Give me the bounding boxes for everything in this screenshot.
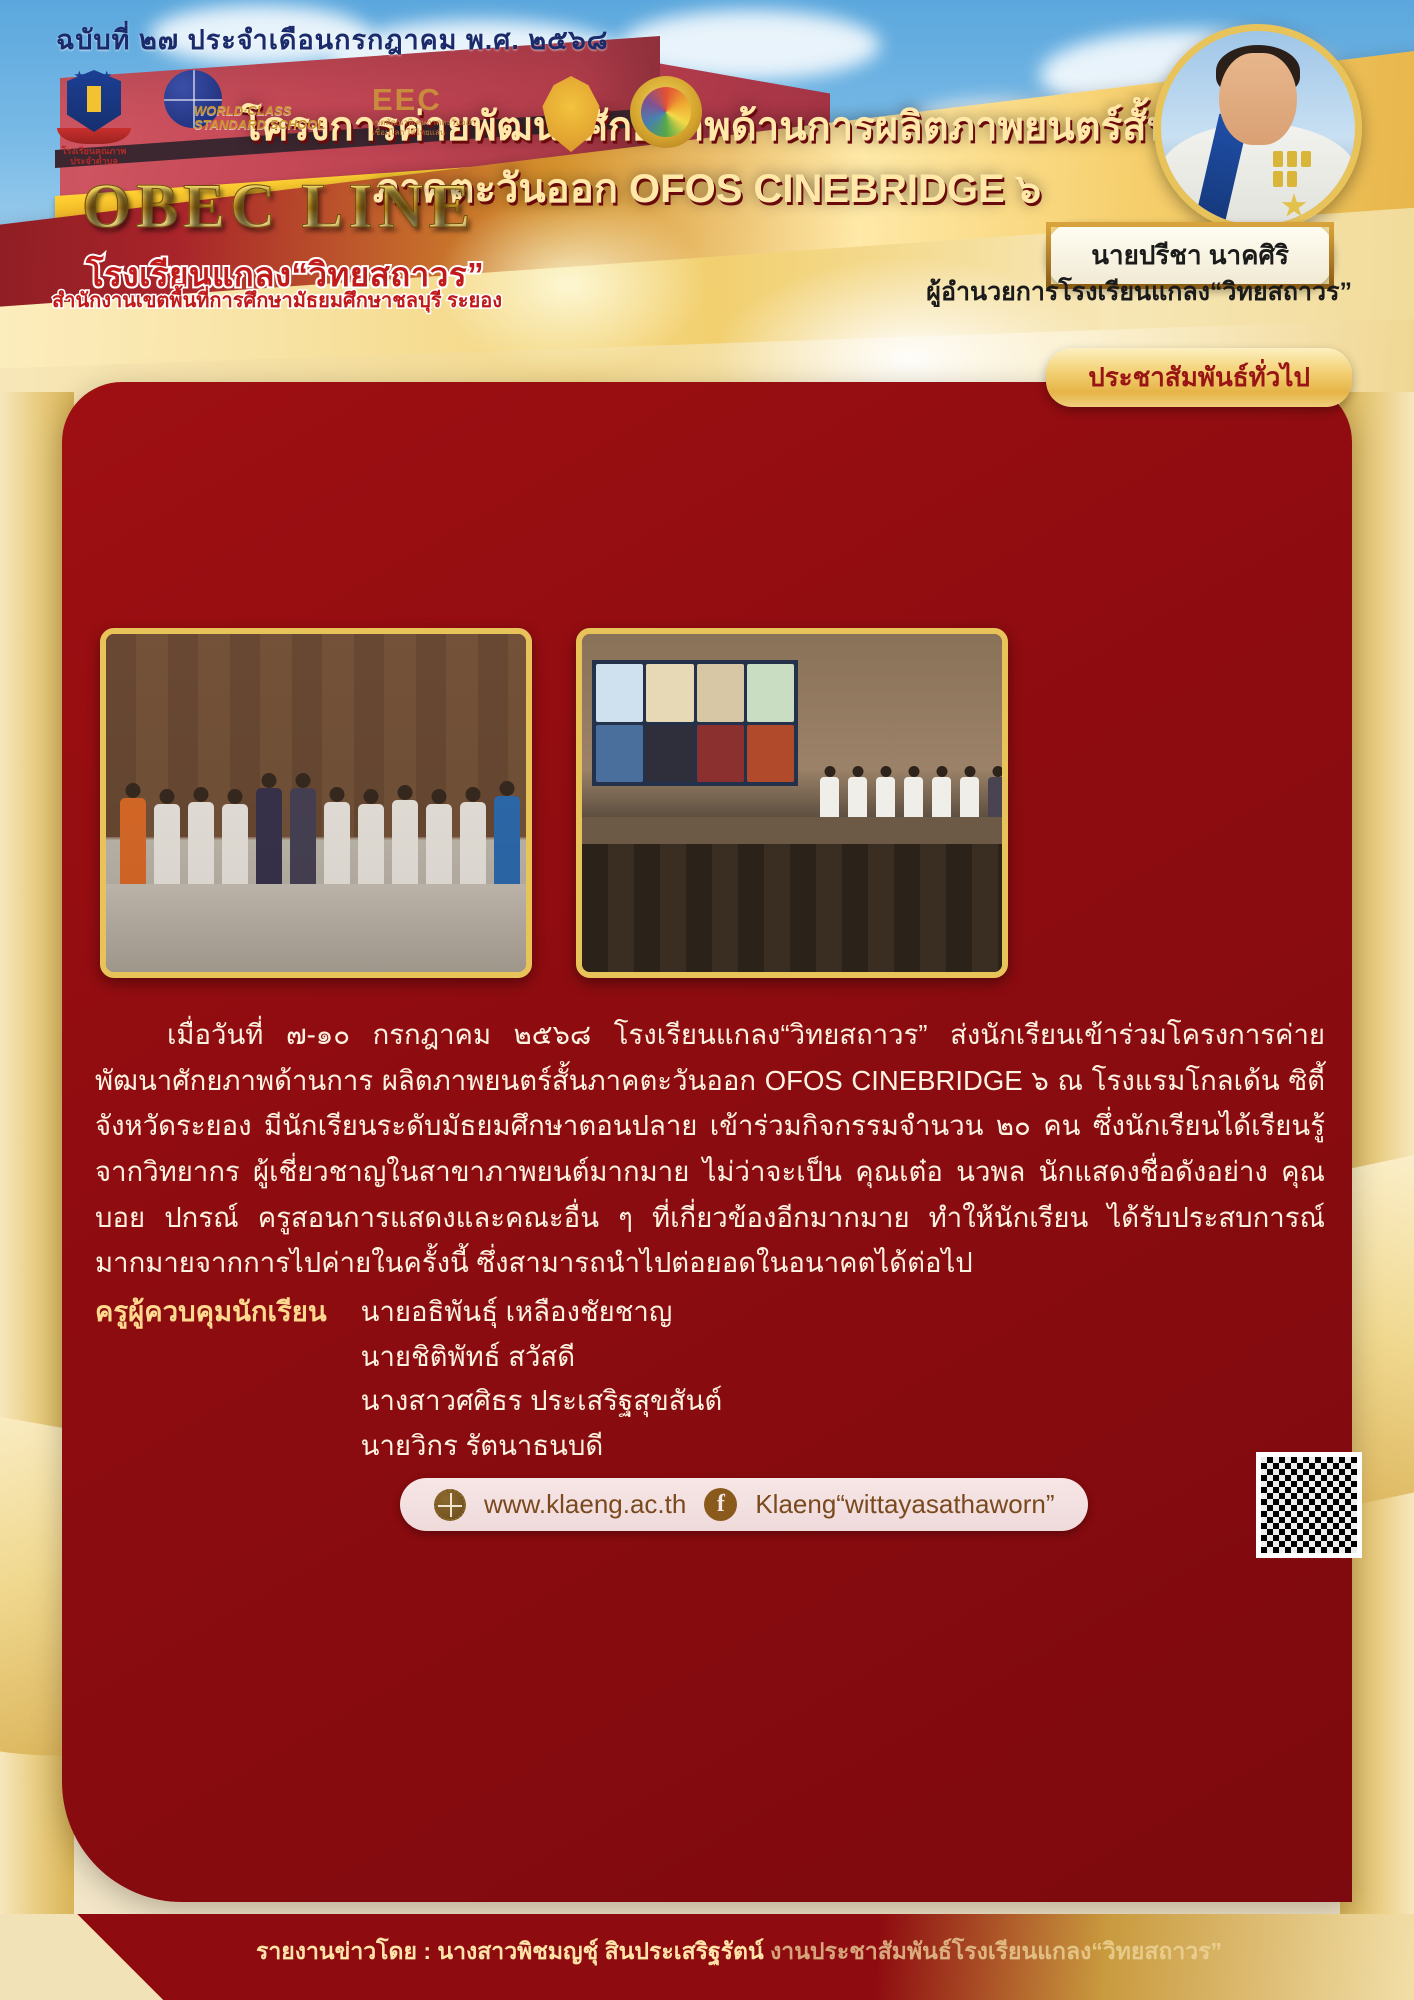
teacher-name: นายวิกร รัตนาธนบดี — [361, 1424, 723, 1469]
supervising-teachers: ครูผู้ควบคุมนักเรียน นายอธิพันธุ์ เหลือง… — [95, 1290, 722, 1468]
garuda-icon — [540, 76, 602, 152]
eec-wordmark: EEC — [372, 84, 512, 115]
school-office-name: สำนักงานเขตพื้นที่การศึกษามัธยมศึกษาชลบุ… — [52, 284, 502, 316]
footer-reporter: รายงานข่าวโดย : นางสาวพิชมญชุ์ สินประเสร… — [256, 1938, 764, 1964]
eec-logo: EEC เขตพัฒนาพิเศษภาคตะวันออกเชื่อมโลก ให… — [372, 70, 512, 138]
person-figure — [932, 777, 951, 817]
world-class-caption: WORLD·CLASSSTANDARD SCHOOL — [194, 104, 325, 131]
photo-award-ceremony — [100, 628, 532, 978]
audience-seats — [582, 844, 1002, 972]
person-figure — [848, 777, 867, 817]
globe-icon — [434, 1489, 466, 1521]
garuda-emblem — [540, 70, 602, 152]
klaeng-school-seal — [630, 70, 702, 148]
medal-icon — [1301, 151, 1311, 167]
website-link[interactable]: www.klaeng.ac.th — [484, 1489, 686, 1520]
person-figure — [904, 777, 923, 817]
footer-bar: รายงานข่าวโดย : นางสาวพิชมญชุ์ สินประเสร… — [0, 1914, 1414, 2000]
world-class-standard-school-logo: WORLD·CLASSSTANDARD SCHOOL — [164, 70, 344, 128]
crest-icon — [67, 70, 121, 132]
eec-subtitle: เขตพัฒนาพิเศษภาคตะวันออกเชื่อมโลก ให้ไทย… — [372, 118, 512, 138]
logo-row: ★★★ โรงเรียนคุณภาพประจำตำบล WORLD·CLASSS… — [52, 70, 702, 154]
person-figure — [960, 777, 979, 817]
contact-bar: www.klaeng.ac.th f Klaeng“wittayasathawo… — [400, 1478, 1088, 1531]
projection-screen — [592, 660, 798, 786]
medal-icon — [1273, 171, 1283, 187]
medal-icon — [1273, 151, 1283, 167]
article-body: เมื่อวันที่ ๗-๑๐ กรกฎาคม ๒๕๖๘ โรงเรียนแก… — [95, 1012, 1325, 1286]
quality-school-caption: โรงเรียนคุณภาพประจำตำบล — [52, 146, 136, 167]
medal-icon — [1287, 171, 1297, 187]
teacher-name: นายอธิพันธุ์ เหลืองชัยชาญ — [361, 1290, 723, 1335]
footer-credit: รายงานข่าวโดย : นางสาวพิชมญชุ์ สินประเสร… — [256, 1934, 1222, 1970]
qr-code[interactable] — [1256, 1452, 1362, 1558]
person-figure — [820, 777, 839, 817]
face-shape — [1219, 53, 1297, 145]
qr-code-pattern — [1261, 1457, 1357, 1553]
facebook-icon[interactable]: f — [704, 1488, 737, 1521]
article-paragraph: เมื่อวันที่ ๗-๑๐ กรกฎาคม ๒๕๖๘ โรงเรียนแก… — [95, 1012, 1325, 1286]
supervising-teachers-list: นายอธิพันธุ์ เหลืองชัยชาญ นายชิติพัทธ์ ส… — [361, 1290, 723, 1468]
director-title: ผู้อำนวยการโรงเรียนแกลง“วิทยสถาวร” — [926, 272, 1352, 312]
photo-auditorium-stage — [576, 628, 1008, 978]
issue-line: ฉบับที่ ๒๗ ประจำเดือนกรกฎาคม พ.ศ. ๒๕๖๘ — [56, 18, 609, 61]
teacher-name: นายชิติพัทธ์ สวัสดี — [361, 1335, 723, 1380]
facebook-page-link[interactable]: Klaeng“wittayasathaworn” — [755, 1489, 1054, 1520]
masthead-title: OBEC LINE — [82, 170, 475, 243]
photo-gallery — [100, 628, 1008, 978]
person-figure — [876, 777, 895, 817]
quality-school-logo: ★★★ โรงเรียนคุณภาพประจำตำบล — [52, 70, 136, 154]
director-avatar — [1154, 24, 1362, 232]
category-badge: ประชาสัมพันธ์ทั่วไป — [1046, 348, 1352, 407]
footer-unit: งานประชาสัมพันธ์โรงเรียนแกลง“วิทยสถาวร” — [770, 1938, 1222, 1964]
school-seal-icon — [630, 76, 702, 148]
supervising-teachers-label: ครูผู้ควบคุมนักเรียน — [95, 1290, 327, 1334]
photo-overlay — [106, 634, 526, 972]
person-figure — [988, 777, 1007, 817]
teacher-name: นางสาวศศิธร ประเสริฐสุขสันต์ — [361, 1379, 723, 1424]
medal-icon — [1287, 151, 1297, 167]
stage-platform — [582, 817, 1002, 844]
